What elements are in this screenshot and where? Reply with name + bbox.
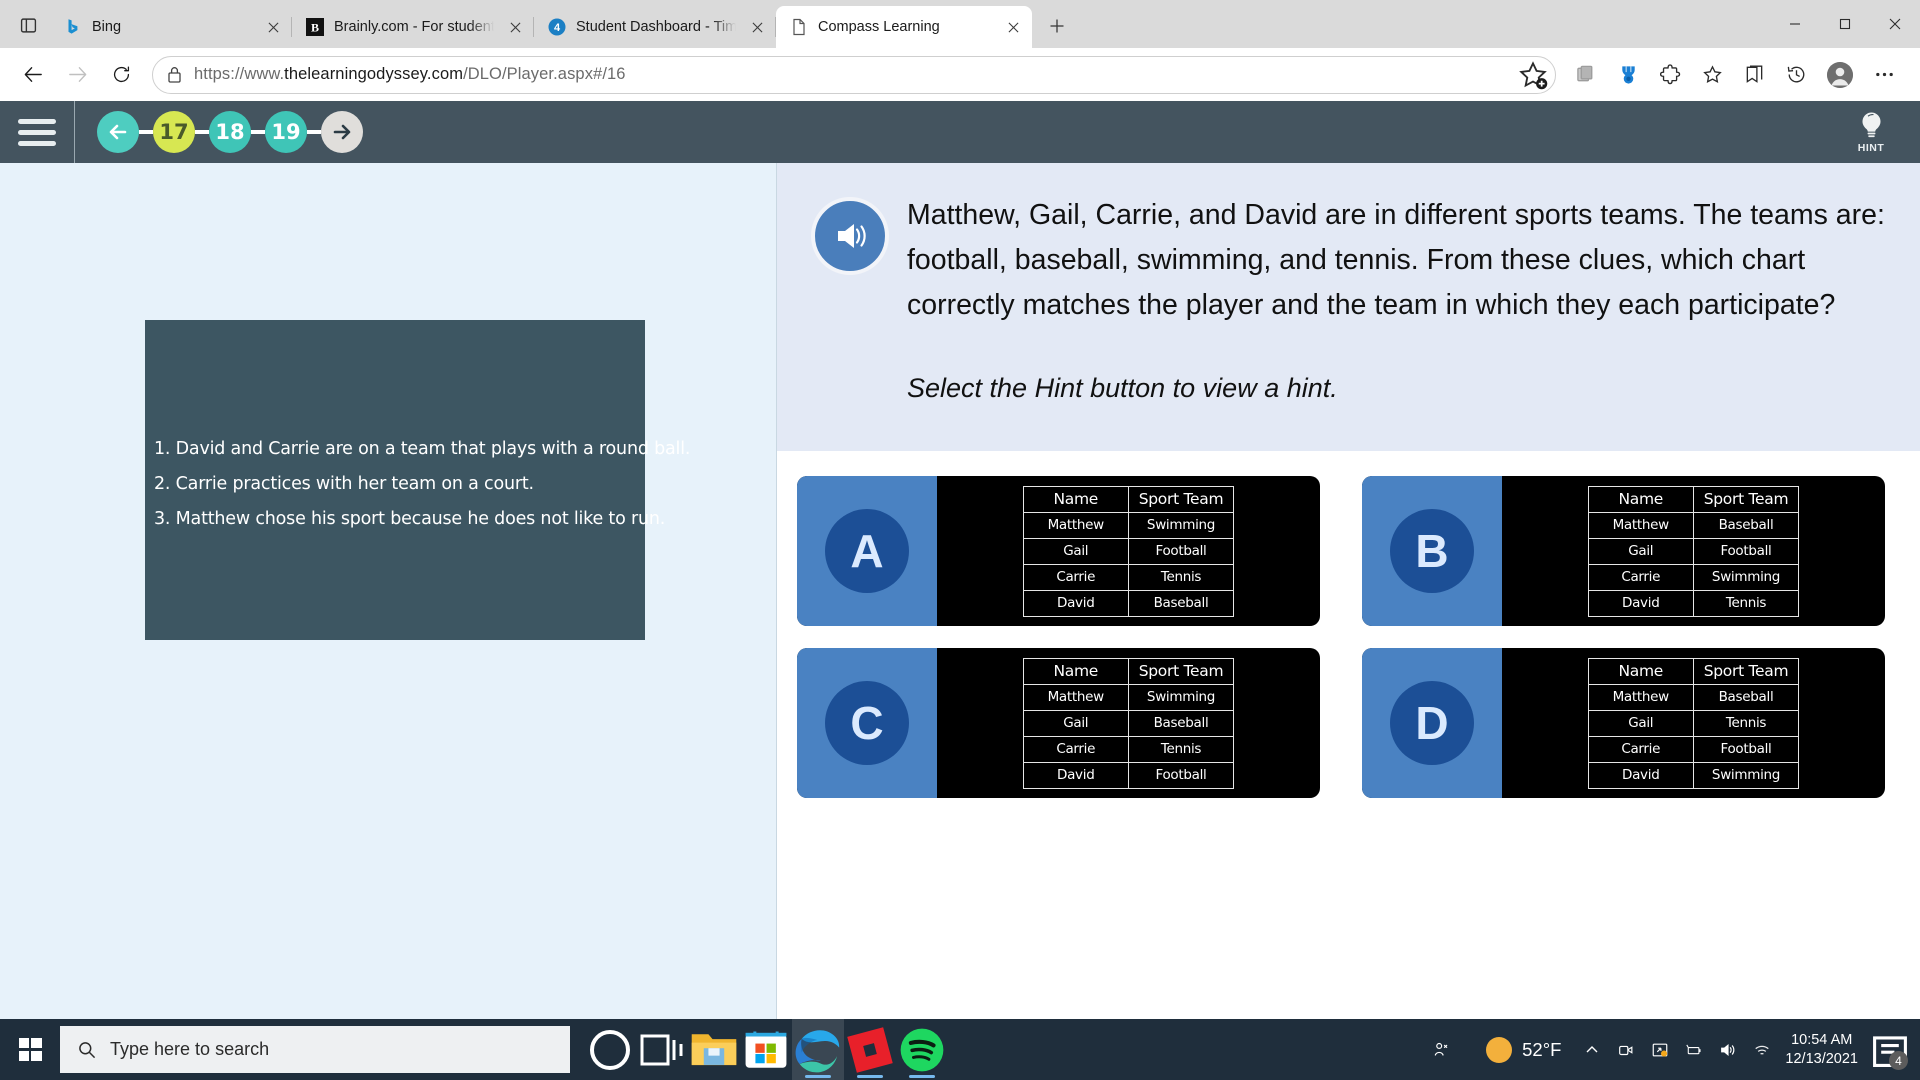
search-placeholder: Type here to search — [110, 1039, 269, 1060]
option-letter: B — [1390, 509, 1474, 593]
system-tray: 52°F 10:54 AM 12/13/2021 4 — [1424, 1019, 1920, 1080]
step-next-button[interactable] — [321, 111, 363, 153]
cell-sport: Football — [1128, 762, 1234, 788]
table-row: DavidSwimming — [1588, 762, 1799, 788]
table-row: CarrieFootball — [1588, 736, 1799, 762]
clue-item: 2. Carrie practices with her team on a c… — [154, 467, 627, 502]
table-row: MatthewBaseball — [1588, 512, 1799, 538]
column-header-sport: Sport Team — [1128, 658, 1234, 684]
answer-option-b[interactable]: B Name Sport Team MatthewBaseball GailFo… — [1362, 476, 1885, 626]
close-icon[interactable] — [262, 16, 284, 38]
notification-badge: 4 — [1889, 1051, 1908, 1070]
start-button[interactable] — [0, 1019, 60, 1080]
browser-tab[interactable]: Bing — [50, 6, 292, 48]
cell-sport: Swimming — [1128, 512, 1234, 538]
taskbar-clock[interactable]: 10:54 AM 12/13/2021 — [1779, 1031, 1868, 1069]
address-bar: https://www.thelearningodyssey.com/DLO/P… — [0, 48, 1920, 101]
cell-name: Gail — [1588, 538, 1693, 564]
cell-sport: Swimming — [1693, 762, 1799, 788]
microsoft-store-icon[interactable] — [740, 1019, 792, 1080]
reload-icon[interactable] — [100, 54, 142, 96]
answer-options: A Name Sport Team MatthewSwimming GailFo… — [777, 451, 1920, 798]
close-window-icon[interactable] — [1870, 0, 1920, 48]
minimize-icon[interactable] — [1770, 0, 1820, 48]
collections2-icon[interactable] — [1734, 55, 1774, 95]
cell-name: Gail — [1023, 710, 1128, 736]
column-header-name: Name — [1588, 486, 1693, 512]
table-row: MatthewBaseball — [1588, 684, 1799, 710]
svg-text:B: B — [311, 21, 319, 35]
lightbulb-icon — [1859, 111, 1884, 141]
table-row: MatthewSwimming — [1023, 512, 1234, 538]
header-divider — [74, 101, 75, 163]
cell-name: Matthew — [1588, 684, 1693, 710]
clock-time: 10:54 AM — [1785, 1031, 1858, 1050]
app-header: 17 18 19 HINT — [0, 101, 1920, 163]
brainly-icon: B — [306, 18, 324, 36]
onedrive-sync-icon[interactable] — [1643, 1019, 1677, 1080]
table-row: GailFootball — [1023, 538, 1234, 564]
option-letter-badge[interactable]: C — [797, 648, 937, 798]
lesson-stepper: 17 18 19 — [97, 111, 363, 153]
column-header-name: Name — [1023, 486, 1128, 512]
cell-sport: Football — [1693, 538, 1799, 564]
table-header-row: Name Sport Team — [1023, 658, 1234, 684]
clock-date: 12/13/2021 — [1785, 1050, 1858, 1069]
column-header-sport: Sport Team — [1128, 486, 1234, 512]
hint-button[interactable]: HINT — [1840, 101, 1902, 163]
profile-icon[interactable] — [1818, 55, 1862, 95]
tab-title: Bing — [92, 19, 252, 35]
clue-item: 1. David and Carrie are on a team that p… — [154, 432, 627, 467]
stepper-connector — [139, 130, 153, 134]
cell-name: Matthew — [1023, 512, 1128, 538]
page-icon — [790, 18, 808, 36]
windows-taskbar: Type here to search 52°F — [0, 1019, 1920, 1080]
question-body: Matthew, Gail, Carrie, and David are in … — [907, 193, 1890, 328]
url-bar[interactable]: https://www.thelearningodyssey.com/DLO/P… — [152, 56, 1556, 94]
step-back-button[interactable] — [97, 111, 139, 153]
option-table-wrap: Name Sport Team MatthewBaseball GailFoot… — [1502, 476, 1885, 626]
search-icon — [78, 1041, 96, 1059]
browser-tab[interactable]: B Brainly.com - For students. By st — [292, 6, 534, 48]
step-19[interactable]: 19 — [265, 111, 307, 153]
menu-icon[interactable] — [0, 101, 74, 163]
option-table-wrap: Name Sport Team MatthewBaseball GailTenn… — [1502, 648, 1885, 798]
question-card: Matthew, Gail, Carrie, and David are in … — [777, 163, 1920, 451]
edge-icon[interactable] — [792, 1019, 844, 1080]
answer-table: Name Sport Team MatthewSwimming GailFoot… — [1023, 486, 1235, 617]
add-favorite-icon[interactable] — [1517, 59, 1549, 91]
question-pane: Matthew, Gail, Carrie, and David are in … — [777, 163, 1920, 1019]
camera-icon[interactable] — [1609, 1019, 1643, 1080]
column-header-sport: Sport Team — [1693, 486, 1799, 512]
table-row: MatthewSwimming — [1023, 684, 1234, 710]
cell-sport: Tennis — [1128, 564, 1234, 590]
option-letter-badge[interactable]: A — [797, 476, 937, 626]
cell-sport: Football — [1693, 736, 1799, 762]
window-controls — [1770, 0, 1920, 48]
task-view-icon[interactable] — [636, 1019, 688, 1080]
wifi-icon[interactable] — [1745, 1019, 1779, 1080]
option-table-wrap: Name Sport Team MatthewSwimming GailFoot… — [937, 476, 1320, 626]
speaker-button[interactable] — [811, 197, 889, 275]
cell-name: Matthew — [1588, 512, 1693, 538]
spotify-icon[interactable] — [896, 1019, 948, 1080]
cell-name: Carrie — [1588, 564, 1693, 590]
table-row: DavidBaseball — [1023, 590, 1234, 616]
browser-tab[interactable]: 4 Student Dashboard - Time4Learn — [534, 6, 776, 48]
tab-title: Compass Learning — [818, 19, 992, 35]
cell-name: Matthew — [1023, 684, 1128, 710]
notification-center-button[interactable]: 4 — [1868, 1019, 1912, 1080]
taskbar-search[interactable]: Type here to search — [60, 1026, 570, 1073]
step-17[interactable]: 17 — [153, 111, 195, 153]
cell-sport: Football — [1128, 538, 1234, 564]
table-row: GailTennis — [1588, 710, 1799, 736]
step-18[interactable]: 18 — [209, 111, 251, 153]
answer-table: Name Sport Team MatthewBaseball GailTenn… — [1588, 658, 1800, 789]
close-icon[interactable] — [1002, 16, 1024, 38]
cell-name: David — [1023, 590, 1128, 616]
cell-sport: Tennis — [1128, 736, 1234, 762]
stepper-connector — [307, 130, 321, 134]
close-icon[interactable] — [504, 16, 526, 38]
table-header-row: Name Sport Team — [1588, 486, 1799, 512]
cell-sport: Swimming — [1128, 684, 1234, 710]
browser-tab-active[interactable]: Compass Learning — [776, 6, 1032, 48]
option-letter-badge[interactable]: B — [1362, 476, 1502, 626]
history-icon[interactable] — [1776, 55, 1816, 95]
temperature: 52°F — [1522, 1039, 1561, 1061]
cell-name: David — [1023, 762, 1128, 788]
cell-name: Gail — [1023, 538, 1128, 564]
extensions-icon[interactable] — [1650, 55, 1690, 95]
cell-sport: Swimming — [1693, 564, 1799, 590]
column-header-sport: Sport Team — [1693, 658, 1799, 684]
option-letter-badge[interactable]: D — [1362, 648, 1502, 798]
column-header-name: Name — [1588, 658, 1693, 684]
tab-actions-icon[interactable] — [10, 7, 46, 43]
maximize-icon[interactable] — [1820, 0, 1870, 48]
lock-icon — [167, 66, 182, 83]
cell-sport: Baseball — [1128, 590, 1234, 616]
cell-name: David — [1588, 762, 1693, 788]
battery-icon[interactable] — [1677, 1019, 1711, 1080]
close-icon[interactable] — [746, 16, 768, 38]
browser-window: Bing B Brainly.com - For students. By st… — [0, 0, 1920, 1019]
url-text: https://www.thelearningodyssey.com/DLO/P… — [194, 65, 1505, 84]
cell-sport: Tennis — [1693, 710, 1799, 736]
forward-icon[interactable] — [56, 54, 98, 96]
cell-name: Gail — [1588, 710, 1693, 736]
cell-sport: Baseball — [1128, 710, 1234, 736]
tab-title: Student Dashboard - Time4Learn — [576, 19, 736, 35]
answer-option-a[interactable]: A Name Sport Team MatthewSwimming GailFo… — [797, 476, 1320, 626]
table-row: CarrieSwimming — [1588, 564, 1799, 590]
cortana-icon[interactable] — [584, 1019, 636, 1080]
tab-title: Brainly.com - For students. By st — [334, 19, 494, 35]
svg-text:4: 4 — [554, 22, 561, 34]
answer-option-d[interactable]: D Name Sport Team MatthewBaseball GailTe… — [1362, 648, 1885, 798]
time4learning-icon: 4 — [548, 18, 566, 36]
question-text-block: Matthew, Gail, Carrie, and David are in … — [907, 189, 1890, 404]
avatar — [1827, 62, 1853, 88]
bing-icon — [64, 18, 82, 36]
lesson-body: 1. David and Carrie are on a team that p… — [0, 163, 1920, 1019]
back-icon[interactable] — [12, 54, 54, 96]
new-tab-button[interactable] — [1040, 9, 1074, 43]
option-letter: C — [825, 681, 909, 765]
table-row: CarrieTennis — [1023, 736, 1234, 762]
roblox-icon[interactable] — [844, 1019, 896, 1080]
settings-more-icon[interactable] — [1864, 55, 1904, 95]
taskbar-apps — [584, 1019, 948, 1080]
cell-sport: Baseball — [1693, 684, 1799, 710]
clues-pane: 1. David and Carrie are on a team that p… — [0, 163, 777, 1019]
option-letter: A — [825, 509, 909, 593]
tab-strip: Bing B Brainly.com - For students. By st… — [0, 0, 1920, 48]
collections-icon[interactable] — [1566, 55, 1606, 95]
show-hidden-icons[interactable] — [1575, 1019, 1609, 1080]
speaker-icon — [829, 215, 871, 257]
cell-name: Carrie — [1588, 736, 1693, 762]
cell-name: Carrie — [1023, 736, 1128, 762]
cell-sport: Baseball — [1693, 512, 1799, 538]
table-row: DavidFootball — [1023, 762, 1234, 788]
answer-option-c[interactable]: C Name Sport Team MatthewSwimming GailBa… — [797, 648, 1320, 798]
cell-sport: Tennis — [1693, 590, 1799, 616]
stepper-connector — [251, 130, 265, 134]
cell-name: Carrie — [1023, 564, 1128, 590]
stepper-connector — [195, 130, 209, 134]
answer-table: Name Sport Team MatthewSwimming GailBase… — [1023, 658, 1235, 789]
people-icon[interactable] — [1424, 1019, 1458, 1080]
weather-widget[interactable]: 52°F — [1458, 1037, 1575, 1063]
option-table-wrap: Name Sport Team MatthewSwimming GailBase… — [937, 648, 1320, 798]
table-header-row: Name Sport Team — [1023, 486, 1234, 512]
sun-icon — [1486, 1037, 1512, 1063]
question-hint-line: Select the Hint button to view a hint. — [907, 373, 1890, 404]
table-header-row: Name Sport Team — [1588, 658, 1799, 684]
windows-logo-icon — [19, 1038, 42, 1061]
table-row: GailBaseball — [1023, 710, 1234, 736]
volume-icon[interactable] — [1711, 1019, 1745, 1080]
table-row: DavidTennis — [1588, 590, 1799, 616]
clues-box: 1. David and Carrie are on a team that p… — [145, 320, 645, 640]
answer-table: Name Sport Team MatthewBaseball GailFoot… — [1588, 486, 1800, 617]
clue-item: 3. Matthew chose his sport because he do… — [154, 502, 627, 537]
cell-name: David — [1588, 590, 1693, 616]
favorites-icon[interactable] — [1692, 55, 1732, 95]
column-header-name: Name — [1023, 658, 1128, 684]
table-row: CarrieTennis — [1023, 564, 1234, 590]
file-explorer-icon[interactable] — [688, 1019, 740, 1080]
table-row: GailFootball — [1588, 538, 1799, 564]
option-letter: D — [1390, 681, 1474, 765]
hint-label: HINT — [1858, 142, 1885, 154]
medal-icon[interactable] — [1608, 55, 1648, 95]
